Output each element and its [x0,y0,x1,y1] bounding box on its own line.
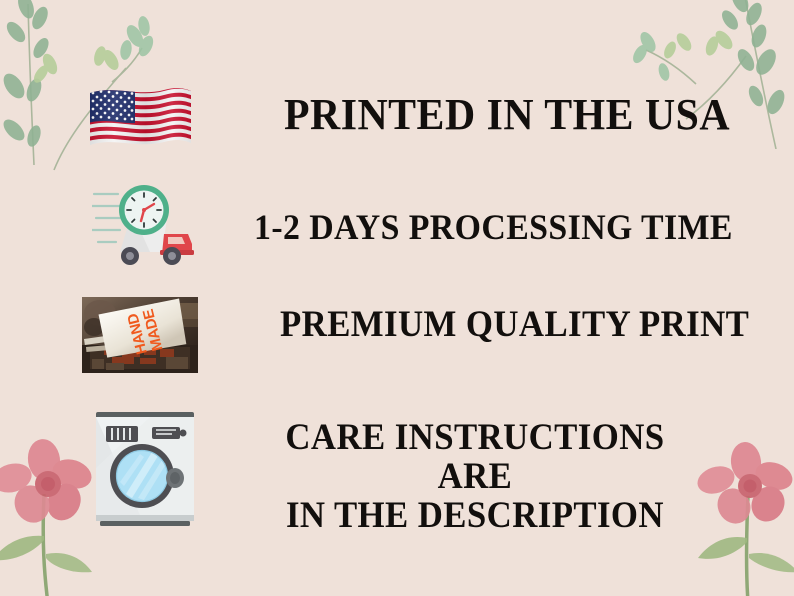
watercolor-flower-icon [688,438,794,596]
letterpress-printing-photo: HAND MADE [82,297,198,373]
feature-label-premium-quality: PREMIUM QUALITY PRINT [280,305,749,344]
feature-label-care-instructions: CARE INSTRUCTIONS ARE IN THE DESCRIPTION [255,418,695,536]
fast-shipping-clock-truck-icon [92,182,204,272]
feature-label-printed-in-usa: PRINTED IN THE USA [284,92,730,139]
washing-machine-icon [90,408,200,530]
usa-flag-icon [88,83,193,157]
feature-label-processing-time: 1-2 DAYS PROCESSING TIME [254,208,733,246]
shop-info-graphic: PRINTED IN THE USA [0,0,794,596]
